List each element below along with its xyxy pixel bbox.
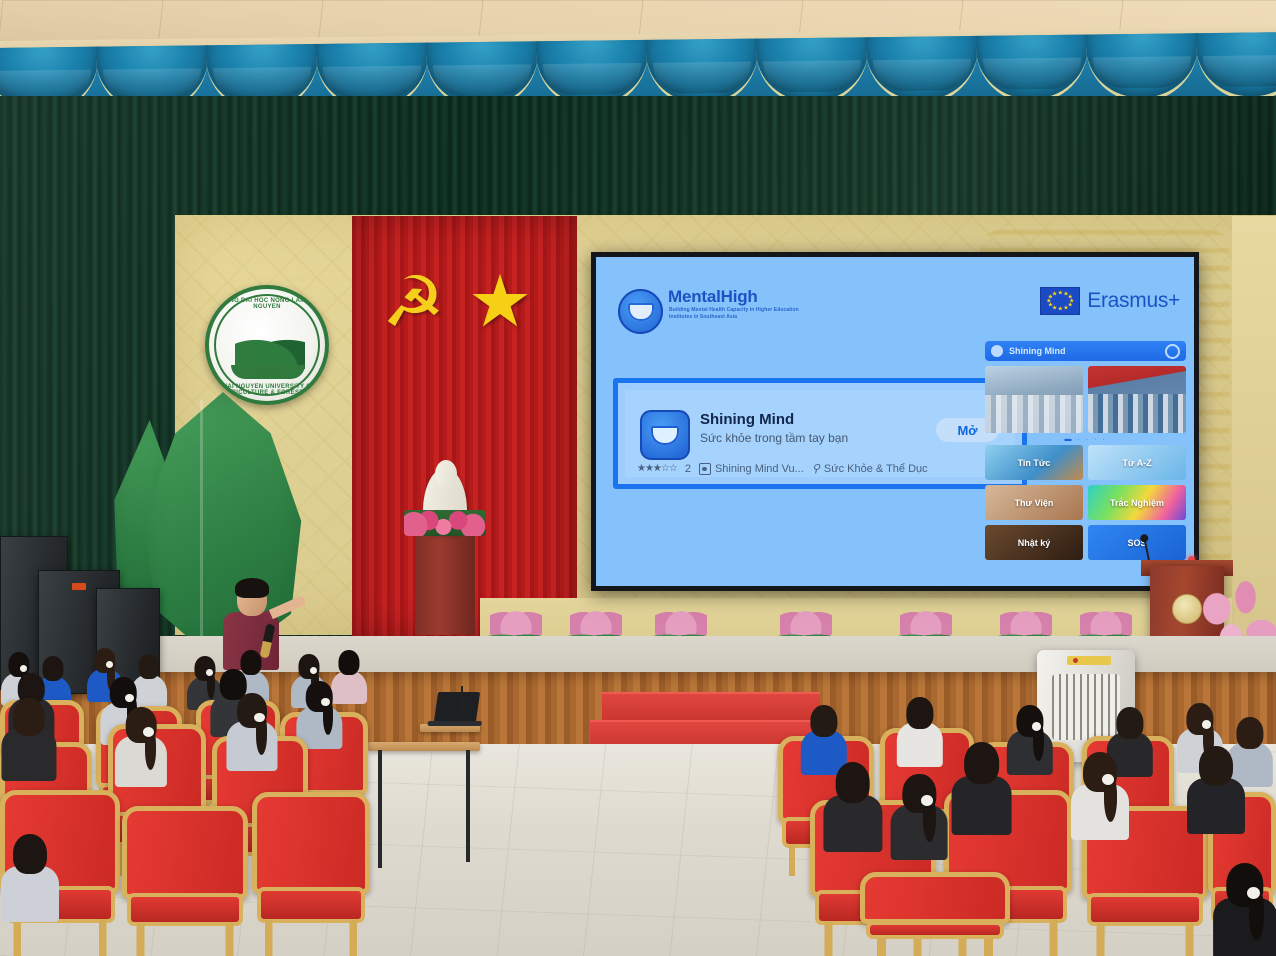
eu-star-icon: ★ [1052, 291, 1057, 298]
valance-swag [1196, 32, 1276, 101]
person-head [906, 697, 933, 729]
audience-chair [122, 806, 248, 956]
audience-member [822, 756, 883, 848]
mentalhigh-brand-name: MentalHigh [668, 287, 758, 307]
app-tile-tin-tuc[interactable]: Tin Tức [985, 445, 1083, 480]
category-icon: ⚲ [812, 462, 820, 475]
app-category: Sức Khỏe & Thể Dục [824, 463, 928, 475]
app-name: Shining Mind [700, 411, 794, 428]
chair-back [860, 872, 1010, 924]
stage-step-1 [602, 692, 820, 722]
person-torso [891, 805, 948, 860]
tile-label: Tin Tức [1018, 458, 1051, 468]
tile-label: Từ A-Z [1122, 458, 1151, 468]
emblem-bottom-text: THAI NGUYEN UNIVERSITY OF AGRICULTURE & … [209, 384, 325, 396]
person-torso [1071, 784, 1129, 840]
chair-legs [869, 938, 1001, 956]
app-tile-grid: Tin Tức Từ A-Z Thư Viện Trắc Nghiệm Nhật… [985, 445, 1186, 560]
university-emblem: TRUONG DAI HOC NONG LAM THAI NGUYEN 1969… [205, 285, 329, 405]
logo-book-shape [628, 303, 654, 321]
person-head [1199, 746, 1233, 786]
app-tile-tu-a-z[interactable]: Từ A-Z [1088, 445, 1186, 480]
app-header-title: Shining Mind [1009, 346, 1159, 356]
app-header-bar: Shining Mind [985, 341, 1186, 361]
carousel-photo-2 [1088, 366, 1186, 433]
erasmus-logo: ★★★★★★★★★★★★ Erasmus+ [1040, 287, 1180, 315]
chair-back [122, 806, 248, 899]
presenter-hair [235, 578, 269, 598]
hair-scrunchie [254, 713, 265, 723]
app-tile-trac-nghiem[interactable]: Trắc Nghiệm [1088, 485, 1186, 520]
audience-member [896, 692, 944, 764]
person-head [964, 742, 1000, 784]
app-tile-thu-vien[interactable]: Thư Viện [985, 485, 1083, 520]
app-rating-stars: ★★★☆☆ [637, 463, 677, 474]
projector-screen: MentalHigh Building Mental Health Capaci… [596, 257, 1194, 586]
gear-icon[interactable] [1165, 344, 1180, 359]
audience-member [1070, 746, 1130, 836]
eu-star-icon: ★ [1058, 290, 1063, 297]
student-desk-1 [368, 742, 480, 751]
bust-flower-arrangement [404, 510, 486, 536]
person-head [12, 698, 44, 736]
audience-member [0, 828, 60, 918]
app-meta-row: ★★★☆☆ 2 Shining Mind Vu... ⚲ Sức Khỏe & … [637, 462, 1007, 475]
developer-badge-icon [699, 463, 711, 475]
app-header-logo-icon [991, 345, 1003, 357]
desk-leg [466, 750, 470, 862]
person-head [835, 762, 870, 803]
bust-head [435, 460, 457, 488]
emblem-year: 1969 [209, 371, 325, 382]
gold-star-icon: ★ [465, 268, 535, 338]
hair-scrunchie [143, 727, 154, 737]
mentalhigh-logo-icon [618, 289, 663, 334]
tile-label: Thư Viện [1015, 498, 1054, 508]
person-head [13, 834, 47, 874]
person-torso [227, 721, 278, 770]
shining-mind-app-icon [640, 410, 690, 460]
person-head [810, 705, 837, 737]
app-tile-sos[interactable]: SOS [1088, 525, 1186, 560]
tile-label: Nhật ký [1018, 538, 1051, 548]
person-torso [951, 776, 1012, 835]
desk-microphone [461, 686, 463, 712]
app-rating-count: 2 [685, 463, 691, 475]
app-photo-carousel[interactable] [985, 366, 1186, 433]
cooler-control-panel[interactable] [1067, 656, 1111, 665]
app-subtitle: Sức khỏe trong tầm tay bạn [700, 431, 848, 445]
audience-member [1186, 740, 1246, 830]
person-torso [1187, 778, 1245, 834]
chair-seat [866, 921, 1004, 939]
audience-member [1212, 856, 1276, 955]
audience-member [226, 688, 279, 767]
eu-star-icon: ★ [1058, 305, 1063, 312]
erasmus-label: Erasmus+ [1087, 289, 1180, 313]
valance-swag [866, 36, 978, 105]
carousel-photo-1 [985, 366, 1083, 433]
audience-member [890, 768, 949, 856]
emblem-top-text: TRUONG DAI HOC NONG LAM THAI NGUYEN [209, 298, 325, 310]
eu-flag-icon: ★★★★★★★★★★★★ [1040, 287, 1080, 315]
person-torso [1007, 730, 1053, 775]
chair-seat [127, 893, 243, 926]
chair-legs [259, 920, 363, 956]
audience-member [114, 702, 168, 783]
audience-chair [860, 872, 1010, 956]
chair-legs [7, 919, 113, 956]
hair-scrunchie [1102, 774, 1114, 785]
person-torso [897, 722, 943, 767]
person-torso [823, 795, 882, 852]
auditorium-photo: NAM QUANG VINH QUOC CHI ☭ ★ TRUONG DAI H… [0, 0, 1276, 956]
person-head [1116, 707, 1143, 739]
person-torso [1, 866, 59, 922]
person-torso [115, 736, 167, 786]
chair-seat [257, 887, 366, 923]
valance-swag [976, 35, 1088, 104]
laptop [434, 692, 480, 722]
person-torso [1, 728, 56, 781]
audience-member [0, 692, 57, 778]
audience-member [1006, 700, 1054, 772]
tile-label: Trắc Nghiệm [1110, 498, 1164, 508]
carousel-pagination-dots[interactable]: ▬ · · · · [985, 436, 1186, 443]
chair-legs [1090, 923, 1201, 956]
chair-seat [1087, 893, 1203, 926]
right-side-wall [1232, 216, 1276, 636]
app-developer-group: Shining Mind Vu... [699, 463, 804, 475]
app-icon-book-shape [651, 426, 679, 445]
leaf-vein [200, 400, 203, 640]
app-store-card: Shining Mind Sức khỏe trong tầm tay bạn … [613, 378, 1027, 489]
hammer-sickle-icon: ☭ [382, 270, 454, 338]
app-tile-nhat-ky[interactable]: Nhật ký [985, 525, 1083, 560]
person-head [338, 650, 359, 675]
desk-leg [378, 750, 382, 868]
valance-swag [1086, 33, 1198, 102]
mentalhigh-tagline: Building Mental Health Capacity in Highe… [669, 307, 819, 321]
projector-screen-frame: MentalHigh Building Mental Health Capaci… [591, 252, 1199, 591]
audience-chair [252, 792, 370, 956]
speaker-brand-badge [72, 583, 86, 590]
chair-back [252, 792, 370, 894]
app-card-inner: Shining Mind Sức khỏe trong tầm tay bạn … [625, 390, 1015, 477]
bust-pedestal [415, 520, 475, 635]
app-category-group: ⚲ Sức Khỏe & Thể Dục [812, 462, 928, 475]
app-developer: Shining Mind Vu... [715, 463, 804, 475]
audience-member [950, 736, 1013, 831]
chair-legs [130, 923, 241, 956]
eu-star-icon: ★ [1063, 304, 1068, 311]
eu-flag-stars: ★★★★★★★★★★★★ [1041, 288, 1079, 314]
app-screenshot-mockup: Shining Mind ▬ · · · · Tin Tức Từ A-Z Th… [985, 341, 1186, 560]
